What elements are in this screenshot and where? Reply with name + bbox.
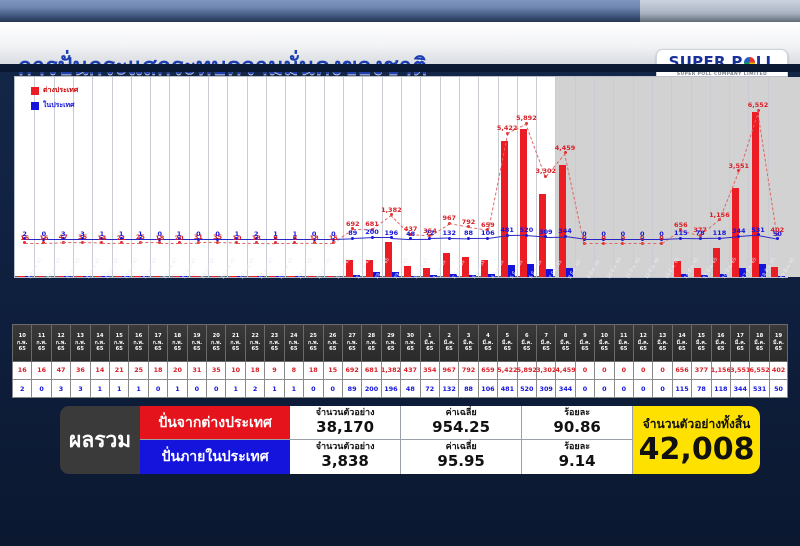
table-column: 13ก.พ.65363: [70, 324, 89, 398]
chart-line-red: [314, 243, 333, 244]
table-header-cell: 10มี.ค.65: [594, 324, 613, 362]
chart-line-red: [160, 243, 179, 244]
chart-value-label-blue: 0: [659, 230, 664, 238]
table-header-cell: 11มี.ค.65: [614, 324, 633, 362]
chart-plot-area: 161647361421251820313510189818156926811,…: [15, 77, 787, 277]
chart-gridline: [324, 77, 325, 277]
table-header-cell: 29ก.พ.65: [381, 324, 400, 362]
table-column: 17ก.พ.65180: [148, 324, 167, 398]
table-column: 7มี.ค.653,302309: [536, 324, 555, 398]
table-header-line: 65: [57, 346, 64, 353]
table-header-cell: 14ก.พ.65: [90, 324, 109, 362]
table-header-line: 65: [38, 346, 45, 353]
table-header-line: 65: [232, 346, 239, 353]
chart-gridline: [710, 77, 711, 277]
chart-gridline: [671, 77, 672, 277]
window-top-strip: [0, 0, 800, 22]
chart-gridline: [729, 77, 730, 277]
table-cell-foreign: 0: [594, 362, 613, 380]
chart-gridline: [208, 77, 209, 277]
chart-value-label-blue: 50: [773, 230, 782, 238]
chart-value-label-blue: 1: [235, 230, 240, 238]
chart-gridline: [517, 77, 518, 277]
table-cell-domestic: 0: [187, 380, 206, 398]
table-cell-foreign: 437: [400, 362, 419, 380]
data-table: 10ก.พ.6516211ก.พ.6516012ก.พ.6547313ก.พ.6…: [12, 324, 788, 398]
table-column: 18ก.พ.65201: [167, 324, 186, 398]
summary-grid: ปั่นจากต่างประเทศจำนวนตัวอย่าง38,170ค่าเ…: [140, 406, 633, 474]
table-cell-foreign: 967: [439, 362, 458, 380]
chart-value-label-blue: 0: [196, 230, 201, 238]
summary-total-value: 42,008: [639, 434, 755, 466]
chart-value-label-blue: 118: [713, 229, 727, 237]
chart-value-label-red: 681: [365, 220, 379, 228]
table-column: 10มี.ค.6500: [594, 324, 613, 398]
table-header-cell: 16มี.ค.65: [711, 324, 730, 362]
table-cell-domestic: 344: [730, 380, 749, 398]
summary-count: จำนวนตัวอย่าง3,838: [290, 440, 401, 474]
table-column: 12ก.พ.65473: [51, 324, 70, 398]
table-header-line: 65: [271, 346, 278, 353]
table-column: 24ก.พ.6581: [284, 324, 303, 398]
table-cell-foreign: 656: [672, 362, 691, 380]
table-cell-domestic: 344: [555, 380, 574, 398]
table-header-line: 65: [775, 346, 782, 353]
table-header-line: 65: [154, 346, 161, 353]
chart-value-label-blue: 132: [442, 229, 456, 237]
chart-line-red: [63, 242, 82, 243]
table-cell-domestic: 2: [12, 380, 31, 398]
table-cell-foreign: 681: [361, 362, 380, 380]
table-header-cell: 22ก.พ.65: [245, 324, 264, 362]
table-cell-domestic: 1: [167, 380, 186, 398]
summary-total: จำนวนตัวอย่างทั้งสิ้น 42,008: [633, 406, 760, 474]
table-cell-foreign: 18: [303, 362, 322, 380]
table-header-cell: 19ก.พ.65: [187, 324, 206, 362]
table-cell-domestic: 50: [769, 380, 788, 398]
chart-gridline: [112, 77, 113, 277]
table-header-line: 65: [193, 346, 200, 353]
table-header-cell: 13ก.พ.65: [70, 324, 89, 362]
table-header-line: 65: [348, 346, 355, 353]
chart-bar-red: [752, 112, 759, 277]
chart-legend: ต่างประเทศ ในประเทศ: [31, 85, 78, 115]
chart-line-red: [276, 243, 295, 244]
table-header-cell: 20ก.พ.65: [206, 324, 225, 362]
table-header-cell: 12มี.ค.65: [633, 324, 652, 362]
chart-line-red: [237, 243, 256, 244]
table-header-line: 65: [19, 346, 26, 353]
table-header-line: 65: [387, 346, 394, 353]
chart-gridline: [189, 77, 190, 277]
table-cell-domestic: 118: [711, 380, 730, 398]
table-header-cell: 27ก.พ.65: [342, 324, 361, 362]
summary-total-key: จำนวนตัวอย่างทั้งสิ้น: [643, 415, 751, 434]
chart-value-label-red: 6,552: [748, 101, 769, 109]
table-header-cell: 10ก.พ.65: [12, 324, 31, 362]
table-header-cell: 1มี.ค.65: [420, 324, 439, 362]
table-cell-foreign: 4,459: [555, 362, 574, 380]
table-header-cell: 24ก.พ.65: [284, 324, 303, 362]
chart-value-label-blue: 1: [100, 230, 105, 238]
legend-item-foreign: ต่างประเทศ: [31, 85, 78, 96]
table-cell-domestic: 72: [420, 380, 439, 398]
chart-gridline: [266, 77, 267, 277]
table-column: 15มี.ค.6537778: [691, 324, 710, 398]
chart-value-label-blue: 531: [751, 226, 765, 234]
table-cell-domestic: 481: [497, 380, 516, 398]
table-header-line: 65: [290, 346, 297, 353]
table-header-cell: 15มี.ค.65: [691, 324, 710, 362]
table-header-cell: 25ก.พ.65: [303, 324, 322, 362]
table-cell-domestic: 1: [90, 380, 109, 398]
table-cell-domestic: 0: [148, 380, 167, 398]
table-cell-foreign: 25: [128, 362, 147, 380]
table-cell-foreign: 1,382: [381, 362, 400, 380]
table-cell-foreign: 18: [245, 362, 264, 380]
summary-mode-label: ปั่นภายในประเทศ: [140, 440, 290, 474]
table-column: 27ก.พ.6569289: [342, 324, 361, 398]
table-cell-foreign: 0: [575, 362, 594, 380]
chart-value-label-blue: 344: [558, 227, 572, 235]
table-cell-domestic: 0: [31, 380, 50, 398]
chart-value-label-blue: 1: [138, 230, 143, 238]
table-cell-foreign: 0: [614, 362, 633, 380]
chart-gridline: [613, 77, 614, 277]
table-cell-domestic: 1: [284, 380, 303, 398]
table-cell-domestic: 3: [70, 380, 89, 398]
chart-value-label-blue: 1: [273, 230, 278, 238]
table-cell-domestic: 0: [633, 380, 652, 398]
table-column: 30ก.พ.6543748: [400, 324, 419, 398]
chart-value-label-red: 692: [346, 220, 360, 228]
chart-value-label-red: 967: [442, 214, 456, 222]
table-cell-domestic: 531: [749, 380, 768, 398]
chart-line-red: [121, 242, 140, 243]
chart-value-label-blue: 0: [601, 230, 606, 238]
table-cell-domestic: 88: [458, 380, 477, 398]
chart-value-label-blue: 309: [539, 228, 553, 236]
table-header-line: 65: [465, 346, 472, 353]
table-cell-foreign: 5,892: [517, 362, 536, 380]
chart-line-red: [642, 243, 661, 244]
summary-count-value: 3,838: [321, 453, 368, 470]
legend-swatch-foreign-icon: [31, 87, 39, 95]
table-column: 11มี.ค.6500: [614, 324, 633, 398]
table-cell-foreign: 47: [51, 362, 70, 380]
table-column: 15ก.พ.65211: [109, 324, 128, 398]
chart-gridline: [555, 77, 556, 277]
summary-percent-value: 90.86: [553, 419, 600, 436]
table-header-cell: 21ก.พ.65: [225, 324, 244, 362]
legend-label-domestic: ในประเทศ: [43, 100, 75, 111]
table-header-cell: 19มี.ค.65: [769, 324, 788, 362]
table-header-cell: 18ก.พ.65: [167, 324, 186, 362]
table-cell-foreign: 6,552: [749, 362, 768, 380]
table-cell-foreign: 31: [187, 362, 206, 380]
chart-value-label-blue: 0: [215, 230, 220, 238]
table-header-cell: 8มี.ค.65: [555, 324, 574, 362]
chart-value-label-blue: 48: [406, 230, 415, 238]
table-header-cell: 15ก.พ.65: [109, 324, 128, 362]
table-header-line: 65: [135, 346, 142, 353]
table-header-cell: 23ก.พ.65: [264, 324, 283, 362]
table-header-line: 65: [116, 346, 123, 353]
table-header-cell: 4มี.ค.65: [478, 324, 497, 362]
table-cell-foreign: 20: [167, 362, 186, 380]
table-cell-domestic: 1: [109, 380, 128, 398]
table-column: 11ก.พ.65160: [31, 324, 50, 398]
summary-count: จำนวนตัวอย่าง38,170: [290, 406, 401, 440]
table-cell-foreign: 377: [691, 362, 710, 380]
table-header-cell: 30ก.พ.65: [400, 324, 419, 362]
table-cell-domestic: 0: [652, 380, 671, 398]
table-cell-foreign: 3,302: [536, 362, 555, 380]
legend-label-foreign: ต่างประเทศ: [43, 85, 78, 96]
table-header-cell: 28ก.พ.65: [361, 324, 380, 362]
chart-value-label-blue: 196: [385, 229, 399, 237]
chart-line-red: [25, 243, 44, 244]
chart-gridline: [227, 77, 228, 277]
chart-value-label-blue: 520: [520, 226, 534, 234]
table-header-line: 65: [251, 346, 258, 353]
table-column: 14มี.ค.65656115: [672, 324, 691, 398]
chart-value-label-red: 792: [462, 218, 476, 226]
table-header-line: 65: [620, 346, 627, 353]
chart-value-label-red: 3,302: [535, 167, 556, 175]
table-column: 16มี.ค.651,156118: [711, 324, 730, 398]
table-header-cell: 3มี.ค.65: [458, 324, 477, 362]
table-header-line: 65: [698, 346, 705, 353]
table-column: 17มี.ค.653,551344: [730, 324, 749, 398]
table-cell-domestic: 0: [594, 380, 613, 398]
table-cell-domestic: 78: [691, 380, 710, 398]
chart-gridline: [362, 77, 363, 277]
chart-line-red: [295, 243, 314, 244]
chart-line-red: [623, 243, 642, 244]
table-column: 10ก.พ.65162: [12, 324, 31, 398]
chart-gridline: [150, 77, 151, 277]
table-header-line: 65: [543, 346, 550, 353]
table-cell-domestic: 200: [361, 380, 380, 398]
chart-value-label-blue: 88: [464, 229, 473, 237]
table-cell-domestic: 1: [128, 380, 147, 398]
chart-gridline: [459, 77, 460, 277]
chart-value-label-blue: 2: [22, 230, 27, 238]
summary-average-value: 95.95: [437, 453, 484, 470]
infographic-page: การปั่นกระแสกระทบความมั่นคงของชาติ SUPER…: [0, 0, 800, 546]
chart-gridline: [401, 77, 402, 277]
table-header-cell: 7มี.ค.65: [536, 324, 555, 362]
chart-value-label-red: 3,551: [728, 162, 749, 170]
table-header-line: 65: [426, 346, 433, 353]
chart-value-label-blue: 0: [157, 230, 162, 238]
table-header-cell: 13มี.ค.65: [652, 324, 671, 362]
table-column: 26ก.พ.65150: [323, 324, 342, 398]
table-column: 3มี.ค.6579288: [458, 324, 477, 398]
table-cell-foreign: 1,156: [711, 362, 730, 380]
table-cell-foreign: 3,551: [730, 362, 749, 380]
table-column: 12มี.ค.6500: [633, 324, 652, 398]
table-cell-foreign: 692: [342, 362, 361, 380]
chart-value-label-red: 4,459: [555, 144, 576, 152]
table-header-line: 65: [174, 346, 181, 353]
chart-value-label-blue: 0: [582, 230, 587, 238]
table-header-line: 65: [484, 346, 491, 353]
summary-bar: ผลรวม ปั่นจากต่างประเทศจำนวนตัวอย่าง38,1…: [60, 406, 760, 474]
summary-count-value: 38,170: [316, 419, 374, 436]
table-column: 16ก.พ.65251: [128, 324, 147, 398]
summary-row: ปั่นจากต่างประเทศจำนวนตัวอย่าง38,170ค่าเ…: [140, 406, 633, 440]
summary-percent: ร้อยละ90.86: [522, 406, 633, 440]
chart-value-label-red: 5,422: [497, 124, 518, 132]
table-cell-domestic: 1: [264, 380, 283, 398]
chart-value-label-blue: 344: [732, 227, 746, 235]
table-column: 28ก.พ.65681200: [361, 324, 380, 398]
chart-gridline: [382, 77, 383, 277]
chart-value-label-blue: 3: [80, 230, 85, 238]
chart-panel: 161647361421251820313510189818156926811,…: [14, 76, 788, 278]
chart-gridline: [305, 77, 306, 277]
table-cell-domestic: 106: [478, 380, 497, 398]
table-header-cell: 2มี.ค.65: [439, 324, 458, 362]
table-cell-domestic: 196: [381, 380, 400, 398]
summary-average-value: 954.25: [432, 419, 490, 436]
chart-line-blue: [391, 238, 410, 240]
table-header-cell: 14มี.ค.65: [672, 324, 691, 362]
chart-line-red: [604, 243, 623, 244]
table-header-cell: 6มี.ค.65: [517, 324, 536, 362]
chart-value-label-red: 656: [674, 221, 688, 229]
chart-line-blue: [411, 238, 430, 239]
table-cell-foreign: 659: [478, 362, 497, 380]
table-header-line: 65: [329, 346, 336, 353]
summary-average: ค่าเฉลี่ย954.25: [401, 406, 522, 440]
chart-x-axis: 10 ก.พ. 6511 ก.พ. 6512 ก.พ. 6513 ก.พ. 65…: [14, 277, 786, 309]
table-header-line: 65: [562, 346, 569, 353]
chart-value-label-blue: 200: [365, 228, 379, 236]
table-column: 20ก.พ.65350: [206, 324, 225, 398]
chart-gridline: [247, 77, 248, 277]
table-column: 2มี.ค.65967132: [439, 324, 458, 398]
chart-line-red: [256, 243, 275, 244]
chart-value-label-blue: 0: [621, 230, 626, 238]
table-cell-domestic: 0: [575, 380, 594, 398]
chart-value-label-blue: 1: [293, 230, 298, 238]
chart-gridline: [594, 77, 595, 277]
chart-value-label-red: 1,382: [381, 206, 402, 214]
chart-gridline: [652, 77, 653, 277]
chart-value-label-blue: 115: [674, 229, 688, 237]
chart-value-label-blue: 481: [500, 226, 514, 234]
table-column: 9มี.ค.6500: [575, 324, 594, 398]
table-cell-foreign: 16: [12, 362, 31, 380]
table-header-cell: 5มี.ค.65: [497, 324, 516, 362]
chart-line-blue: [546, 236, 565, 237]
chart-value-label-blue: 0: [42, 230, 47, 238]
table-header-line: 65: [601, 346, 608, 353]
table-cell-foreign: 0: [652, 362, 671, 380]
chart-value-label-blue: 106: [481, 229, 495, 237]
table-header-line: 65: [659, 346, 666, 353]
table-header-line: 65: [407, 346, 414, 353]
table-header-line: 65: [96, 346, 103, 353]
table-header-cell: 17มี.ค.65: [730, 324, 749, 362]
table-cell-domestic: 1: [225, 380, 244, 398]
chart-value-label-blue: 89: [348, 229, 357, 237]
table-column: 13มี.ค.6500: [652, 324, 671, 398]
table-cell-domestic: 520: [517, 380, 536, 398]
table-cell-domestic: 0: [614, 380, 633, 398]
chart-value-label-blue: 1: [119, 230, 124, 238]
table-header-line: 65: [368, 346, 375, 353]
chart-line-red: [179, 242, 198, 243]
table-header-line: 65: [640, 346, 647, 353]
chart-value-label-red: 5,892: [516, 114, 537, 122]
table-cell-foreign: 18: [148, 362, 167, 380]
summary-row: ปั่นภายในประเทศจำนวนตัวอย่าง3,838ค่าเฉลี…: [140, 440, 633, 474]
table-cell-foreign: 792: [458, 362, 477, 380]
table-cell-domestic: 309: [536, 380, 555, 398]
chart-value-label-blue: 0: [331, 230, 336, 238]
summary-percent-value: 9.14: [559, 453, 596, 470]
table-header-cell: 9มี.ค.65: [575, 324, 594, 362]
chart-gridline: [478, 77, 479, 277]
chart-value-label-blue: 3: [61, 230, 66, 238]
chart-gridline: [633, 77, 634, 277]
chart-value-label-blue: 72: [425, 229, 434, 237]
summary-percent: ร้อยละ9.14: [522, 440, 633, 474]
nav-divider: [0, 64, 800, 72]
table-cell-foreign: 35: [206, 362, 225, 380]
table-header-line: 65: [581, 346, 588, 353]
table-column: 22ก.พ.65182: [245, 324, 264, 398]
chart-gridline: [285, 77, 286, 277]
table-column: 18มี.ค.656,552531: [749, 324, 768, 398]
table-cell-foreign: 9: [264, 362, 283, 380]
table-cell-domestic: 89: [342, 380, 361, 398]
table-header-line: 65: [504, 346, 511, 353]
table-column: 14ก.พ.65141: [90, 324, 109, 398]
table-cell-foreign: 16: [31, 362, 50, 380]
title-bar: การปั่นกระแสกระทบความมั่นคงของชาติ SUPER…: [0, 22, 800, 65]
table-column: 29ก.พ.651,382196: [381, 324, 400, 398]
summary-label: ผลรวม: [60, 406, 140, 474]
chart-value-label-red: 659: [481, 221, 495, 229]
table-column: 19มี.ค.6540250: [769, 324, 788, 398]
table-cell-foreign: 36: [70, 362, 89, 380]
table-column: 5มี.ค.655,422481: [497, 324, 516, 398]
table-cell-foreign: 15: [323, 362, 342, 380]
table-column: 23ก.พ.6591: [264, 324, 283, 398]
chart-value-label-blue: 0: [640, 230, 645, 238]
table-header-line: 65: [213, 346, 220, 353]
chart-gridline: [536, 77, 537, 277]
table-cell-domestic: 48: [400, 380, 419, 398]
table-cell-foreign: 5,422: [497, 362, 516, 380]
table-cell-domestic: 0: [303, 380, 322, 398]
table-header-line: 65: [717, 346, 724, 353]
table-header-line: 65: [310, 346, 317, 353]
chart-gridline: [420, 77, 421, 277]
table-header-cell: 11ก.พ.65: [31, 324, 50, 362]
chart-value-label-blue: 2: [254, 230, 259, 238]
chart-line-red: [102, 243, 121, 244]
table-header-line: 65: [756, 346, 763, 353]
table-cell-foreign: 8: [284, 362, 303, 380]
table-cell-foreign: 354: [420, 362, 439, 380]
table-column: 21ก.พ.65101: [225, 324, 244, 398]
